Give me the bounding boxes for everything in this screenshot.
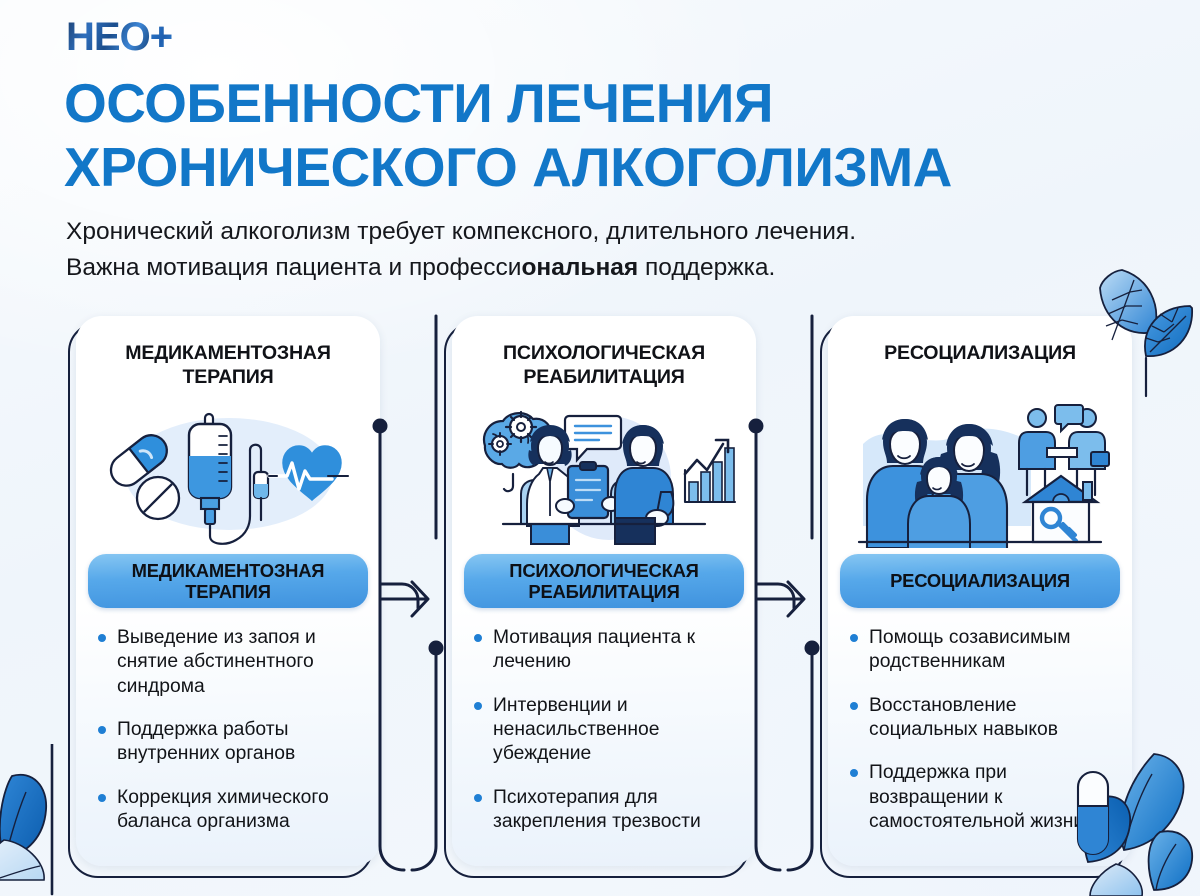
card-bullet-list: Мотивация пациента к лечению Интервенции…: [470, 626, 738, 853]
page-subtitle: Хронический алкоголизм требует компексно…: [66, 214, 1066, 287]
arrow-card2-to-card3: [736, 316, 828, 888]
stage-card-resocialization[interactable]: РЕСОЦИАЛИЗАЦИЯ: [812, 316, 1137, 880]
stage-card-medication-therapy[interactable]: МЕДИКАМЕНТОЗНАЯ ТЕРАПИЯ: [60, 316, 385, 880]
brand-logo[interactable]: НЕО+: [66, 17, 172, 57]
connector-dot-right: [805, 641, 820, 656]
card-bullet-list: Помощь созависимым родственникам Восстан…: [846, 626, 1114, 853]
list-item: Интервенции и ненасильственное убеждение: [472, 694, 738, 767]
list-item: Мотивация пациента к лечению: [472, 626, 738, 675]
brand-logo-plus: +: [150, 15, 172, 59]
stage-card-psychological-rehabilitation[interactable]: ПСИХОЛОГИЧЕСКАЯ РЕАБИЛИТАЦИЯ: [436, 316, 761, 880]
connector-dot-right: [429, 641, 444, 656]
family-handshake-house-key-icon: [845, 398, 1115, 548]
card-heading: РЕСОЦИАЛИЗАЦИЯ: [884, 342, 1076, 390]
list-item: Коррекция химического баланса организма: [96, 786, 362, 835]
card-badge[interactable]: РЕСОЦИАЛИЗАЦИЯ: [840, 554, 1120, 608]
card-heading: МЕДИКАМЕНТОЗНАЯ ТЕРАПИЯ: [90, 342, 366, 390]
page-title-line-1: ОСОБЕННОСТИ ЛЕЧЕНИЯ: [64, 72, 773, 134]
connector-dot-left: [373, 419, 388, 434]
card-badge[interactable]: ПСИХОЛОГИЧЕСКАЯ РЕАБИЛИТАЦИЯ: [464, 554, 744, 608]
page-subtitle-line-1: Хронический алкоголизм требует компексно…: [66, 218, 856, 245]
card-bullet-list: Выведение из запоя и снятие абстинентног…: [94, 626, 362, 853]
list-item: Восстановление социальных навыков: [848, 694, 1114, 743]
page-subtitle-line-2-part-b: поддержка.: [638, 254, 775, 281]
stage-cards-row: МЕДИКАМЕНТОЗНАЯ ТЕРАПИЯ: [0, 316, 1200, 888]
list-item: Психотерапия для закрепления трезвости: [472, 786, 738, 835]
page-subtitle-line-2-emphasis: ональная: [521, 254, 638, 281]
infographic-page: НЕО+ ОСОБЕННОСТИ ЛЕЧЕНИЯ ХРОНИЧЕСКОГО АЛ…: [0, 0, 1200, 896]
list-item: Помощь созависимым родственникам: [848, 626, 1114, 675]
list-item: Выведение из запоя и снятие абстинентног…: [96, 626, 362, 699]
list-item: Поддержка при возвращении к самостоятель…: [848, 761, 1114, 834]
list-item: Поддержка работы внутренних органов: [96, 718, 362, 767]
brain-gears-therapist-patient-growth-chart-icon: [469, 398, 739, 548]
connector-dot-left: [749, 419, 764, 434]
card-body: ПСИХОЛОГИЧЕСКАЯ РЕАБИЛИТАЦИЯ: [452, 316, 756, 866]
card-body: РЕСОЦИАЛИЗАЦИЯ: [828, 316, 1132, 866]
card-body: МЕДИКАМЕНТОЗНАЯ ТЕРАПИЯ: [76, 316, 380, 866]
pills-iv-drip-heart-ecg-icon: [93, 398, 363, 548]
brand-logo-name: НЕО: [66, 15, 150, 59]
card-heading: ПСИХОЛОГИЧЕСКАЯ РЕАБИЛИТАЦИЯ: [466, 342, 742, 390]
card-badge[interactable]: МЕДИКАМЕНТОЗНАЯ ТЕРАПИЯ: [88, 554, 368, 608]
arrow-card1-to-card2: [360, 316, 452, 888]
page-title-line-2: ХРОНИЧЕСКОГО АЛКОГОЛИЗМА: [64, 136, 1144, 200]
page-title: ОСОБЕННОСТИ ЛЕЧЕНИЯ ХРОНИЧЕСКОГО АЛКОГОЛ…: [64, 72, 1144, 200]
page-subtitle-line-2-part-a: Важна мотивация пациента и професси: [66, 254, 521, 281]
